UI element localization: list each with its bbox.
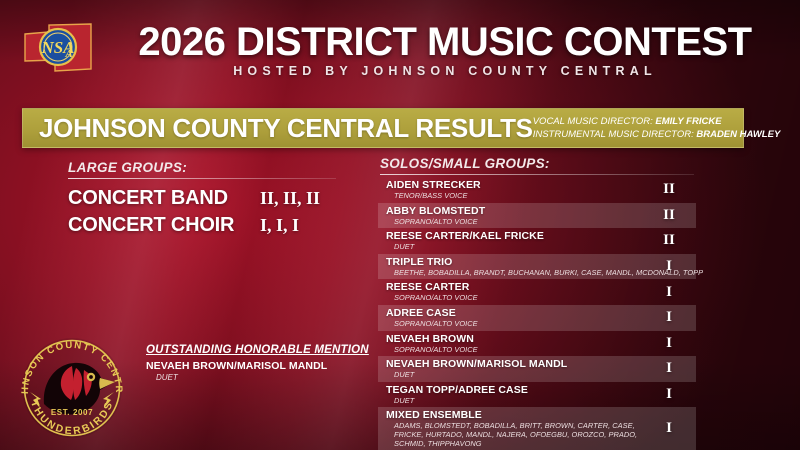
solo-entry-rating: II <box>642 232 696 249</box>
directors-block: VOCAL MUSIC DIRECTOR: EMILY FRICKE INSTR… <box>533 115 781 141</box>
solo-entry-rating: I <box>642 360 696 377</box>
solo-entry-row: ABBY BLOMSTEDTSOPRANO/ALTO VOICEII <box>378 203 696 229</box>
solo-entry-rating: I <box>642 420 696 437</box>
solo-entry-name: NEVAEH BROWN/MARISOL MANDL <box>386 358 642 370</box>
solo-entry-row: REESE CARTER/KAEL FRICKEDUETII <box>378 228 696 254</box>
solo-entry-name: REESE CARTER <box>386 281 642 293</box>
solo-entry-row: ADREE CASESOPRANO/ALTO VOICEI <box>378 305 696 331</box>
solo-entry-rating: II <box>642 207 696 224</box>
large-groups-divider <box>68 178 336 179</box>
solo-entry-subtitle: SOPRANO/ALTO VOICE <box>394 346 642 355</box>
solo-entry-rating: I <box>642 335 696 352</box>
solos-divider <box>380 174 694 175</box>
solo-entry-text: NEVAEH BROWN/MARISOL MANDLDUET <box>386 358 642 380</box>
solo-entry-subtitle: TENOR/BASS VOICE <box>394 192 642 201</box>
solo-entry-row: AIDEN STRECKERTENOR/BASS VOICEII <box>378 177 696 203</box>
solo-entry-text: MIXED ENSEMBLEADAMS, BLOMSTEDT, BOBADILL… <box>386 409 642 448</box>
results-banner: JOHNSON COUNTY CENTRAL RESULTS VOCAL MUS… <box>22 108 744 148</box>
vocal-director-name: EMILY FRICKE <box>655 116 721 127</box>
solo-entry-subtitle: BEETHE, BOBADILLA, BRANDT, BUCHANAN, BUR… <box>394 269 642 278</box>
solo-entry-rating: II <box>642 181 696 198</box>
large-group-name: CONCERT CHOIR <box>68 212 260 239</box>
solo-entry-rating: I <box>642 386 696 403</box>
solo-entry-subtitle: DUET <box>394 243 642 252</box>
solo-entry-text: NEVAEH BROWNSOPRANO/ALTO VOICE <box>386 333 642 355</box>
solo-entry-text: REESE CARTER/KAEL FRICKEDUET <box>386 230 642 252</box>
solos-heading: SOLOS/SMALL GROUPS: <box>380 156 696 171</box>
solo-entry-text: TRIPLE TRIOBEETHE, BOBADILLA, BRANDT, BU… <box>386 256 642 278</box>
large-groups-heading: LARGE GROUPS: <box>68 160 370 175</box>
solos-section: SOLOS/SMALL GROUPS: AIDEN STRECKERTENOR/… <box>378 156 696 450</box>
solo-entry-name: ABBY BLOMSTEDT <box>386 205 642 217</box>
instrumental-director-line: INSTRUMENTAL MUSIC DIRECTOR: BRADEN HAWL… <box>533 128 781 141</box>
large-group-rating: I, I, I <box>260 212 299 239</box>
solo-entry-text: ABBY BLOMSTEDTSOPRANO/ALTO VOICE <box>386 205 642 227</box>
solo-entry-name: AIDEN STRECKER <box>386 179 642 191</box>
results-banner-title: JOHNSON COUNTY CENTRAL RESULTS <box>39 113 533 144</box>
solo-entry-row: MIXED ENSEMBLEADAMS, BLOMSTEDT, BOBADILL… <box>378 407 696 450</box>
solo-entry-text: ADREE CASESOPRANO/ALTO VOICE <box>386 307 642 329</box>
solo-entry-text: REESE CARTERSOPRANO/ALTO VOICE <box>386 281 642 303</box>
solo-entry-name: TEGAN TOPP/ADREE CASE <box>386 384 642 396</box>
solo-entry-subtitle: DUET <box>394 371 642 380</box>
solo-entry-row: REESE CARTERSOPRANO/ALTO VOICEI <box>378 279 696 305</box>
honorable-mention-subtitle: DUET <box>156 373 371 382</box>
honorable-mention-heading: OUTSTANDING HONORABLE MENTION <box>146 344 371 356</box>
solo-entry-row: TRIPLE TRIOBEETHE, BOBADILLA, BRANDT, BU… <box>378 254 696 280</box>
solo-entry-subtitle: SOPRANO/ALTO VOICE <box>394 294 642 303</box>
svg-text:EST. 2007: EST. 2007 <box>51 408 93 417</box>
solos-list: AIDEN STRECKERTENOR/BASS VOICEIIABBY BLO… <box>378 177 696 450</box>
large-group-name: CONCERT BAND <box>68 185 260 212</box>
honorable-mention-name: NEVAEH BROWN/MARISOL MANDL <box>146 360 371 372</box>
solo-entry-row: NEVAEH BROWN/MARISOL MANDLDUETI <box>378 356 696 382</box>
school-logo: JOHNSON COUNTY CENTRAL THUNDERBIRDS EST.… <box>14 330 130 446</box>
large-group-row: CONCERT CHOIRI, I, I <box>68 212 370 239</box>
solo-entry-text: AIDEN STRECKERTENOR/BASS VOICE <box>386 179 642 201</box>
instrumental-director-label: INSTRUMENTAL MUSIC DIRECTOR: <box>533 129 694 140</box>
solo-entry-row: TEGAN TOPP/ADREE CASEDUETI <box>378 382 696 408</box>
solo-entry-subtitle: SOPRANO/ALTO VOICE <box>394 218 642 227</box>
honorable-mention-section: OUTSTANDING HONORABLE MENTION NEVAEH BRO… <box>146 344 371 382</box>
large-group-rating: II, II, II <box>260 185 320 212</box>
solo-entry-row: NEVAEH BROWNSOPRANO/ALTO VOICEI <box>378 331 696 357</box>
vocal-director-line: VOCAL MUSIC DIRECTOR: EMILY FRICKE <box>533 115 781 128</box>
large-groups-list: CONCERT BANDII, II, IICONCERT CHOIRI, I,… <box>0 185 370 239</box>
solo-entry-name: ADREE CASE <box>386 307 642 319</box>
vocal-director-label: VOCAL MUSIC DIRECTOR: <box>533 116 653 127</box>
large-groups-section: LARGE GROUPS: CONCERT BANDII, II, IICONC… <box>0 160 370 239</box>
solo-entry-subtitle: ADAMS, BLOMSTEDT, BOBADILLA, BRITT, BROW… <box>394 422 642 448</box>
solo-entry-name: REESE CARTER/KAEL FRICKE <box>386 230 642 242</box>
solo-entry-rating: I <box>642 309 696 326</box>
solo-entry-name: NEVAEH BROWN <box>386 333 642 345</box>
solo-entry-name: TRIPLE TRIO <box>386 256 642 268</box>
page-subtitle: HOSTED BY JOHNSON COUNTY CENTRAL <box>100 64 790 78</box>
svg-text:A: A <box>64 48 72 60</box>
instrumental-director-name: BRADEN HAWLEY <box>696 129 780 140</box>
title-bar: NSA A 2026 DISTRICT MUSIC CONTEST HOSTED… <box>0 0 800 96</box>
solo-entry-rating: I <box>642 284 696 301</box>
solo-entry-name: MIXED ENSEMBLE <box>386 409 642 421</box>
nsaa-logo: NSA A <box>22 20 94 74</box>
page-title: 2026 DISTRICT MUSIC CONTEST <box>100 20 790 64</box>
large-group-row: CONCERT BANDII, II, II <box>68 185 370 212</box>
solo-entry-subtitle: DUET <box>394 397 642 406</box>
solo-entry-rating: I <box>642 258 696 275</box>
solo-entry-subtitle: SOPRANO/ALTO VOICE <box>394 320 642 329</box>
solo-entry-text: TEGAN TOPP/ADREE CASEDUET <box>386 384 642 406</box>
